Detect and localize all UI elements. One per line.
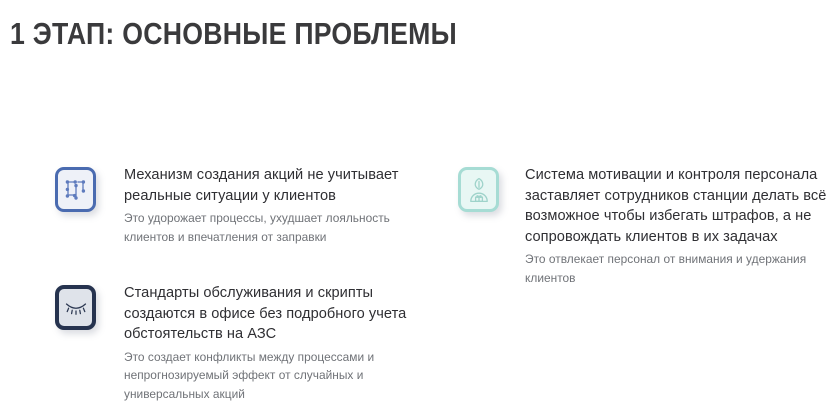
content-columns: Механизм создания акций не учитывает реа…	[0, 0, 830, 408]
card-text: Механизм создания акций не учитывает реа…	[96, 165, 435, 246]
closed-eye-icon	[55, 285, 96, 330]
card-subline: Это удорожает процессы, ухудшает лояльно…	[124, 209, 435, 246]
problem-card-standards: Стандарты обслуживания и скрипты создают…	[55, 283, 435, 404]
person-badge-icon	[458, 167, 499, 212]
problem-card-motivation: Система мотивации и контроля персонала з…	[458, 165, 830, 288]
card-subline: Это отвлекает персонал от внимания и уде…	[525, 250, 830, 287]
card-text: Стандарты обслуживания и скрипты создают…	[96, 283, 435, 404]
problem-card-network: Механизм создания акций не учитывает реа…	[55, 165, 435, 246]
card-headline: Система мотивации и контроля персонала з…	[525, 165, 830, 247]
card-text: Система мотивации и контроля персонала з…	[499, 165, 830, 288]
card-headline: Стандарты обслуживания и скрипты создают…	[124, 283, 435, 345]
card-headline: Механизм создания акций не учитывает реа…	[124, 165, 435, 206]
card-subline: Это создает конфликты между процессами и…	[124, 348, 435, 404]
network-nodes-icon	[55, 167, 96, 212]
